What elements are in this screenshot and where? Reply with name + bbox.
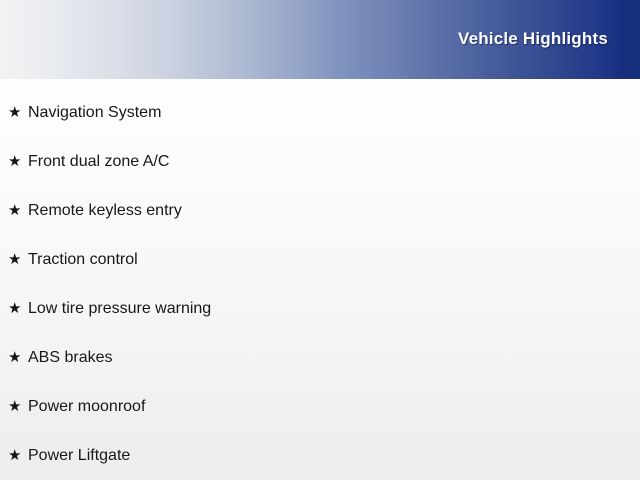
star-bullet-icon: ★ — [8, 333, 22, 382]
vehicle-highlights-page: Vehicle Highlights ★ Navigation System ★… — [0, 0, 640, 480]
list-item: ★ Front dual zone A/C — [0, 137, 640, 186]
vehicle-highlights-list: ★ Navigation System ★ Front dual zone A/… — [0, 88, 640, 480]
star-bullet-icon: ★ — [8, 137, 22, 186]
highlight-label: Remote keyless entry — [28, 202, 182, 219]
star-bullet-icon: ★ — [8, 382, 22, 431]
list-item: ★ Power moonroof — [0, 382, 640, 431]
highlight-label: Power Liftgate — [28, 447, 130, 464]
list-item: ★ Remote keyless entry — [0, 186, 640, 235]
highlight-label: Front dual zone A/C — [28, 153, 169, 170]
list-item: ★ Traction control — [0, 235, 640, 284]
highlight-label: Traction control — [28, 251, 138, 268]
highlight-label: Low tire pressure warning — [28, 300, 211, 317]
page-title: Vehicle Highlights — [458, 29, 608, 49]
highlight-label: ABS brakes — [28, 349, 112, 366]
star-bullet-icon: ★ — [8, 235, 22, 284]
highlight-label: Navigation System — [28, 104, 161, 121]
list-item: ★ Low tire pressure warning — [0, 284, 640, 333]
page-header-banner: Vehicle Highlights — [0, 0, 640, 79]
highlight-label: Power moonroof — [28, 398, 145, 415]
star-bullet-icon: ★ — [8, 284, 22, 333]
list-item: ★ ABS brakes — [0, 333, 640, 382]
star-bullet-icon: ★ — [8, 186, 22, 235]
list-item: ★ Power Liftgate — [0, 431, 640, 480]
list-item: ★ Navigation System — [0, 88, 640, 137]
star-bullet-icon: ★ — [8, 431, 22, 480]
star-bullet-icon: ★ — [8, 88, 22, 137]
